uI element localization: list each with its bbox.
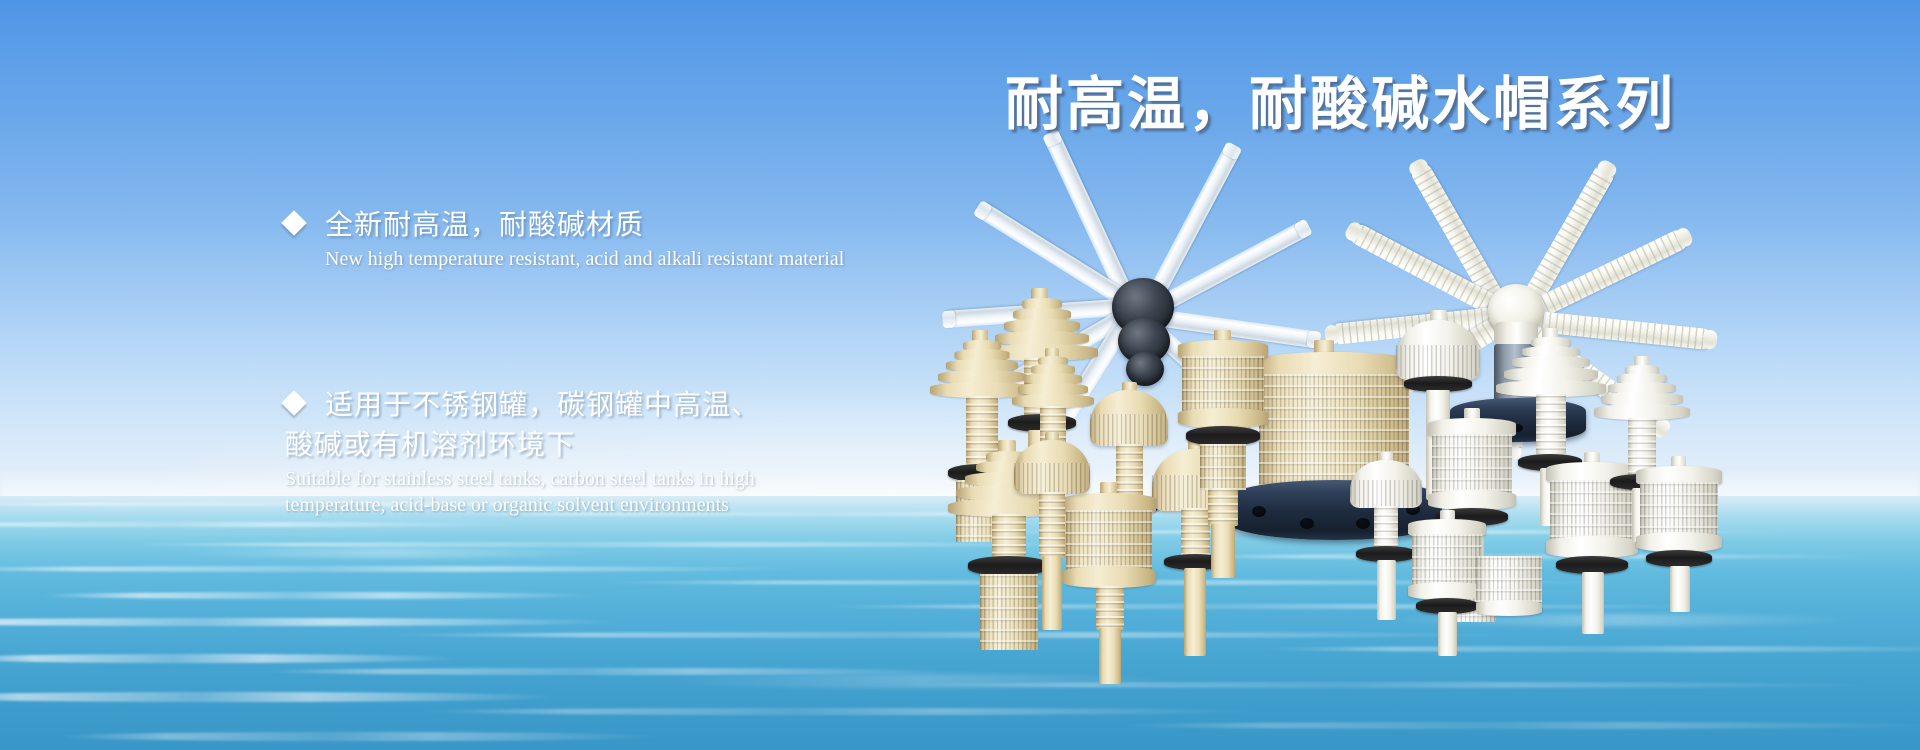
drum-body (1640, 482, 1718, 536)
bullet-2-cn-line-1: 适用于不锈钢罐，碳钢罐中高温、 (325, 385, 760, 425)
bullet-block-1: 全新耐高温，耐酸碱材质 New high temperature resista… (285, 205, 844, 272)
bullet-2-en-line-1: Suitable for stainless steel tanks, carb… (285, 466, 760, 492)
threaded-stem (1208, 488, 1238, 526)
dome-cap (1396, 320, 1480, 380)
bullet-block-2: 适用于不锈钢罐，碳钢罐中高温、 酸碱或有机溶剂环境下 Suitable for … (285, 385, 760, 518)
drum-body (1182, 356, 1264, 414)
rubber-gasket (1646, 550, 1712, 567)
stem-lower (1377, 560, 1396, 620)
cylinder-insert-nozzle (1476, 556, 1542, 676)
drum-body (1476, 556, 1542, 606)
drum-bottom-cap (1476, 600, 1542, 616)
stem-lower (1184, 568, 1206, 656)
threaded-stem (1096, 586, 1124, 630)
drum-body (1412, 534, 1482, 586)
drum-body (1432, 434, 1512, 496)
rubber-gasket (1186, 426, 1260, 446)
ribbed-drum-nozzle-white (1636, 456, 1722, 656)
dome-cap-nozzle (1014, 432, 1090, 652)
page-title: 耐高温，耐酸碱水帽系列 (1005, 57, 1676, 141)
drum-bottom-cap (1178, 408, 1268, 428)
bullet-1-en-line-1: New high temperature resistant, acid and… (325, 246, 844, 272)
threaded-stem (1536, 394, 1566, 458)
stem-lower (1042, 556, 1062, 630)
product-banner: 耐高温，耐酸碱水帽系列 全新耐高温，耐酸碱材质 New high tempera… (0, 0, 1920, 750)
ribbed-drum-nozzle-white (1408, 510, 1486, 700)
dome-cap (1350, 460, 1422, 508)
ribbed-drum-nozzle (1178, 330, 1268, 580)
threaded-stem (1374, 506, 1398, 550)
flange-bolt (1300, 518, 1314, 529)
diamond-bullet-icon (281, 390, 306, 415)
bullet-1-cn-line-1: 全新耐高温，耐酸碱材质 (325, 205, 644, 245)
lower-filter-drum (1200, 444, 1246, 490)
bullet-2-en-line-2: temperature, acid-base or organic solven… (285, 492, 760, 518)
drum-bottom-cap (1636, 532, 1722, 552)
threaded-stem (1039, 492, 1065, 558)
dome-cap (1014, 440, 1090, 494)
stem-lower (1438, 612, 1457, 656)
drum-bottom-cap (1428, 490, 1516, 510)
stem-lower (1670, 566, 1690, 612)
diamond-bullet-icon (281, 210, 306, 235)
bullet-2-cn-line-2: 酸碱或有机溶剂环境下 (285, 425, 760, 465)
dome-cap (1090, 390, 1168, 446)
stem-lower (1211, 524, 1235, 578)
stem-lower (1099, 628, 1121, 684)
